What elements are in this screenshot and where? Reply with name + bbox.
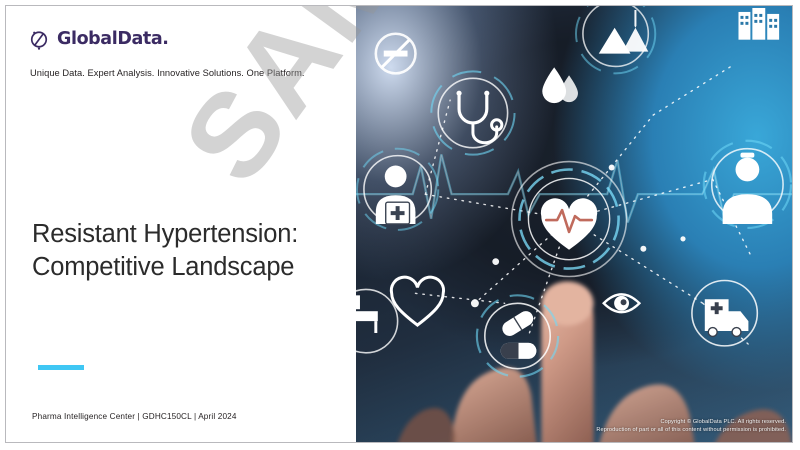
page-title-line-2: Competitive Landscape [32,251,352,284]
brand-tagline: Unique Data. Expert Analysis. Innovative… [30,68,305,78]
medical-icon-network [356,6,792,442]
lab-flask-icon [576,6,655,73]
brand-lockup: GlobalData. [28,28,168,50]
ambulance-icon [692,280,757,345]
page-title: Resistant Hypertension: Competitive Land… [32,218,352,283]
page-title-line-1: Resistant Hypertension: [32,218,352,251]
hospital-buildings-icon [738,8,779,40]
heart-outline-icon [391,277,443,325]
blood-drop-icon [542,67,578,103]
copyright-line-2: Reproduction of part or all of this cont… [596,426,786,435]
copyright-line-1: Copyright © GlobalData PLC. All rights r… [596,418,786,427]
stethoscope-icon [431,71,514,154]
doctor-icon [704,141,791,228]
pills-capsule-icon [477,295,558,376]
title-slide: GlobalData. Unique Data. Expert Analysis… [5,5,793,443]
left-content-panel: GlobalData. Unique Data. Expert Analysis… [6,6,356,442]
no-smoking-icon [376,34,416,74]
hero-copyright: Copyright © GlobalData PLC. All rights r… [596,418,786,435]
heart-pulse-icon [512,162,627,277]
hero-image: Copyright © GlobalData PLC. All rights r… [356,6,792,442]
patient-with-cross-icon [357,149,438,230]
brand-name: GlobalData. [57,29,168,49]
footer-meta: Pharma Intelligence Center | GDHC150CL |… [32,412,237,421]
accent-bar [38,365,84,370]
globaldata-circle-slash-logo-icon [28,28,50,50]
eye-icon [604,294,640,312]
